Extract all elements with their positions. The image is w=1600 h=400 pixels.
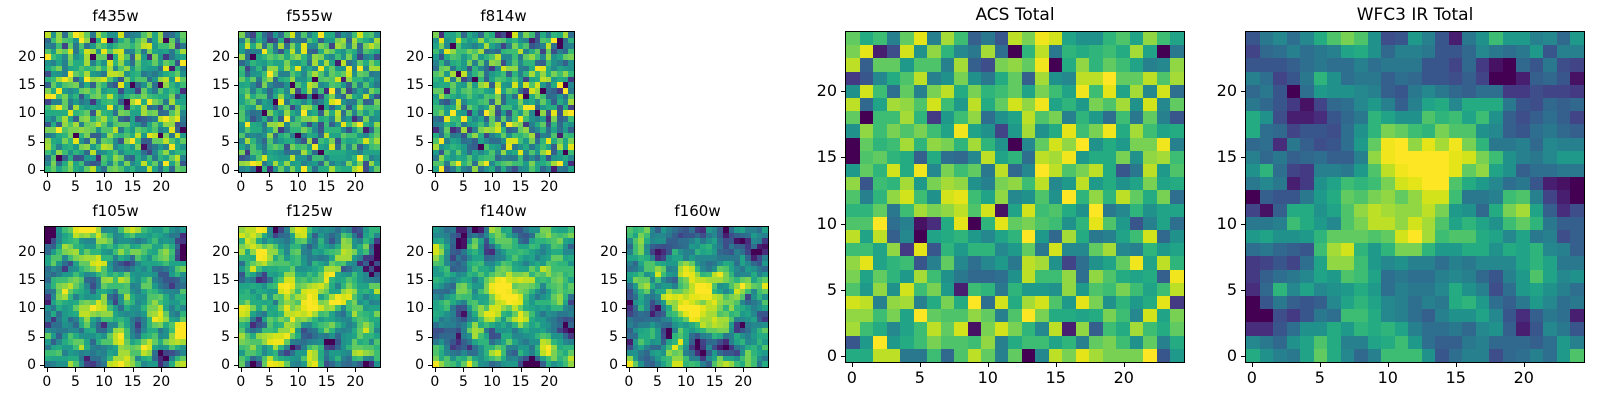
x-tick-label: 0 (42, 375, 51, 389)
panel-f435w: f435w0510152005101520 (0, 0, 1600, 400)
y-tick-label: 15 (783, 149, 837, 165)
x-tick-mark (521, 368, 522, 372)
y-tick-label: 10 (564, 301, 618, 315)
y-tick-mark (234, 280, 238, 281)
panel-f140w: f140w0510152005101520 (0, 0, 1600, 400)
x-tick-mark (1056, 363, 1057, 367)
y-tick-mark (841, 91, 845, 92)
y-tick-mark (1241, 224, 1245, 225)
x-tick-label: 5 (459, 180, 468, 194)
x-tick-mark (1252, 363, 1253, 367)
heatmap-pixels (45, 32, 186, 172)
y-tick-label: 20 (0, 245, 36, 259)
x-tick-mark (435, 368, 436, 372)
y-tick-label: 20 (176, 50, 230, 64)
heatmap-pixels (1246, 32, 1584, 362)
x-tick-mark (355, 368, 356, 372)
y-tick-mark (40, 170, 44, 171)
panel-f814w: f814w0510152005101520 (0, 0, 1600, 400)
x-tick-mark (435, 173, 436, 177)
x-tick-label: 20 (1114, 370, 1134, 386)
x-tick-mark (920, 363, 921, 367)
x-tick-mark (686, 368, 687, 372)
y-tick-mark (40, 85, 44, 86)
y-tick-mark (841, 356, 845, 357)
y-tick-mark (622, 337, 626, 338)
x-tick-label: 0 (430, 180, 439, 194)
x-tick-mark (75, 173, 76, 177)
x-tick-label: 10 (483, 375, 501, 389)
y-tick-label: 5 (176, 330, 230, 344)
y-tick-label: 5 (176, 135, 230, 149)
x-tick-label: 10 (677, 375, 695, 389)
x-tick-mark (133, 368, 134, 372)
y-tick-mark (622, 280, 626, 281)
heatmap-pixels (45, 227, 186, 367)
y-tick-mark (234, 85, 238, 86)
y-tick-mark (428, 280, 432, 281)
y-tick-label: 0 (176, 358, 230, 372)
y-tick-label: 10 (783, 216, 837, 232)
x-tick-mark (355, 173, 356, 177)
y-tick-label: 10 (176, 301, 230, 315)
y-tick-mark (234, 365, 238, 366)
y-tick-mark (841, 290, 845, 291)
y-tick-label: 20 (176, 245, 230, 259)
x-tick-label: 15 (318, 180, 336, 194)
x-tick-mark (47, 173, 48, 177)
x-tick-mark (463, 173, 464, 177)
y-tick-mark (428, 337, 432, 338)
x-tick-mark (269, 368, 270, 372)
axes-f105w (44, 226, 187, 368)
y-tick-label: 10 (176, 106, 230, 120)
x-tick-mark (1456, 363, 1457, 367)
x-tick-label: 10 (95, 375, 113, 389)
x-tick-label: 10 (95, 180, 113, 194)
y-tick-mark (428, 142, 432, 143)
x-tick-mark (104, 173, 105, 177)
x-tick-label: 15 (124, 375, 142, 389)
x-tick-label: 10 (289, 180, 307, 194)
y-tick-mark (841, 224, 845, 225)
y-tick-mark (40, 57, 44, 58)
x-tick-mark (629, 368, 630, 372)
y-tick-mark (428, 252, 432, 253)
y-tick-mark (234, 170, 238, 171)
panel-title-f125w: f125w (238, 204, 381, 219)
x-tick-label: 5 (265, 375, 274, 389)
y-tick-label: 0 (370, 163, 424, 177)
y-tick-mark (428, 365, 432, 366)
y-tick-label: 0 (783, 348, 837, 364)
x-tick-mark (269, 173, 270, 177)
y-tick-mark (622, 308, 626, 309)
y-tick-mark (234, 252, 238, 253)
x-tick-mark (47, 368, 48, 372)
y-tick-label: 10 (0, 106, 36, 120)
panel-title-wfc3-ir-total: WFC3 IR Total (1245, 7, 1585, 24)
x-tick-mark (327, 173, 328, 177)
y-tick-mark (40, 308, 44, 309)
panel-title-f555w: f555w (238, 9, 381, 24)
x-tick-label: 20 (346, 180, 364, 194)
x-tick-mark (104, 368, 105, 372)
x-tick-label: 5 (71, 180, 80, 194)
y-tick-mark (428, 113, 432, 114)
x-tick-label: 20 (734, 375, 752, 389)
y-tick-label: 5 (0, 330, 36, 344)
y-tick-label: 15 (176, 273, 230, 287)
x-tick-mark (492, 173, 493, 177)
x-tick-mark (1320, 363, 1321, 367)
y-tick-label: 0 (0, 358, 36, 372)
x-tick-label: 15 (706, 375, 724, 389)
y-tick-mark (234, 337, 238, 338)
y-tick-mark (622, 252, 626, 253)
heatmap-pixels (239, 227, 380, 367)
axes-f140w (432, 226, 575, 368)
y-tick-mark (234, 113, 238, 114)
panel-f160w: f160w0510152005101520 (0, 0, 1600, 400)
x-tick-label: 20 (152, 180, 170, 194)
panel-f125w: f125w0510152005101520 (0, 0, 1600, 400)
x-tick-label: 15 (1446, 370, 1466, 386)
y-tick-label: 10 (0, 301, 36, 315)
x-tick-label: 0 (624, 375, 633, 389)
x-tick-mark (161, 368, 162, 372)
figure-canvas: f435w0510152005101520f555w05101520051015… (0, 0, 1600, 400)
y-tick-label: 0 (564, 358, 618, 372)
x-tick-label: 20 (540, 375, 558, 389)
axes-f555w (238, 31, 381, 173)
y-tick-mark (428, 57, 432, 58)
x-tick-label: 15 (512, 180, 530, 194)
x-tick-label: 10 (483, 180, 501, 194)
y-tick-mark (1241, 157, 1245, 158)
axes-wfc3-ir-total (1245, 31, 1585, 363)
axes-f125w (238, 226, 381, 368)
axes-acs-total (845, 31, 1185, 363)
x-tick-label: 0 (236, 180, 245, 194)
x-tick-mark (988, 363, 989, 367)
y-tick-mark (1241, 290, 1245, 291)
y-tick-mark (234, 308, 238, 309)
y-tick-label: 0 (370, 358, 424, 372)
panel-wfc3-ir-total: WFC3 IR Total0510152005101520 (0, 0, 1600, 400)
y-tick-mark (841, 157, 845, 158)
y-tick-mark (428, 85, 432, 86)
x-tick-label: 20 (540, 180, 558, 194)
panel-title-f105w: f105w (44, 204, 187, 219)
y-tick-label: 15 (176, 78, 230, 92)
x-tick-label: 10 (978, 370, 998, 386)
heatmap-pixels (239, 32, 380, 172)
y-tick-label: 5 (370, 330, 424, 344)
panel-title-acs-total: ACS Total (845, 7, 1185, 24)
y-tick-mark (1241, 91, 1245, 92)
y-tick-label: 20 (370, 50, 424, 64)
heatmap-pixels (433, 227, 574, 367)
y-tick-mark (40, 252, 44, 253)
x-tick-mark (492, 368, 493, 372)
x-tick-label: 20 (346, 375, 364, 389)
x-tick-mark (1388, 363, 1389, 367)
panel-f105w: f105w0510152005101520 (0, 0, 1600, 400)
x-tick-label: 5 (915, 370, 925, 386)
x-tick-mark (1524, 363, 1525, 367)
x-tick-label: 10 (1378, 370, 1398, 386)
x-tick-label: 0 (42, 180, 51, 194)
panel-title-f160w: f160w (626, 204, 769, 219)
y-tick-label: 15 (1183, 149, 1237, 165)
x-tick-label: 20 (152, 375, 170, 389)
x-tick-label: 15 (512, 375, 530, 389)
x-tick-mark (549, 368, 550, 372)
y-tick-label: 10 (370, 106, 424, 120)
heatmap-pixels (846, 32, 1184, 362)
x-tick-mark (657, 368, 658, 372)
axes-f814w (432, 31, 575, 173)
y-tick-label: 20 (564, 245, 618, 259)
x-tick-label: 5 (653, 375, 662, 389)
x-tick-label: 15 (318, 375, 336, 389)
panel-title-f140w: f140w (432, 204, 575, 219)
y-tick-label: 20 (783, 83, 837, 99)
x-tick-label: 5 (1315, 370, 1325, 386)
x-tick-label: 0 (847, 370, 857, 386)
y-tick-label: 10 (370, 301, 424, 315)
panel-f555w: f555w0510152005101520 (0, 0, 1600, 400)
y-tick-label: 20 (0, 50, 36, 64)
x-tick-mark (743, 368, 744, 372)
y-tick-mark (234, 142, 238, 143)
y-tick-mark (622, 365, 626, 366)
y-tick-label: 15 (370, 273, 424, 287)
panel-title-f435w: f435w (44, 9, 187, 24)
y-tick-mark (428, 308, 432, 309)
y-tick-mark (40, 113, 44, 114)
x-tick-label: 5 (459, 375, 468, 389)
x-tick-mark (241, 368, 242, 372)
y-tick-mark (40, 142, 44, 143)
x-tick-mark (161, 173, 162, 177)
y-tick-mark (428, 170, 432, 171)
y-tick-label: 0 (1183, 348, 1237, 364)
heatmap-pixels (627, 227, 768, 367)
x-tick-mark (715, 368, 716, 372)
x-tick-mark (298, 368, 299, 372)
x-tick-label: 20 (1514, 370, 1534, 386)
x-tick-mark (133, 173, 134, 177)
y-tick-label: 5 (783, 282, 837, 298)
y-tick-label: 5 (1183, 282, 1237, 298)
y-tick-label: 5 (370, 135, 424, 149)
x-tick-mark (298, 173, 299, 177)
x-tick-label: 5 (265, 180, 274, 194)
y-tick-label: 5 (0, 135, 36, 149)
y-tick-label: 20 (1183, 83, 1237, 99)
x-tick-mark (549, 173, 550, 177)
x-tick-mark (463, 368, 464, 372)
panel-title-f814w: f814w (432, 9, 575, 24)
x-tick-label: 0 (236, 375, 245, 389)
x-tick-mark (521, 173, 522, 177)
y-tick-mark (1241, 356, 1245, 357)
x-tick-mark (75, 368, 76, 372)
y-tick-label: 15 (564, 273, 618, 287)
x-tick-label: 15 (1046, 370, 1066, 386)
y-tick-label: 15 (370, 78, 424, 92)
y-tick-label: 15 (0, 273, 36, 287)
x-tick-mark (852, 363, 853, 367)
y-tick-label: 5 (564, 330, 618, 344)
y-tick-mark (40, 280, 44, 281)
x-tick-label: 10 (289, 375, 307, 389)
axes-f435w (44, 31, 187, 173)
x-tick-label: 0 (1247, 370, 1257, 386)
y-tick-label: 0 (176, 163, 230, 177)
y-tick-mark (234, 57, 238, 58)
x-tick-mark (327, 368, 328, 372)
heatmap-pixels (433, 32, 574, 172)
y-tick-label: 0 (0, 163, 36, 177)
y-tick-label: 15 (0, 78, 36, 92)
x-tick-label: 0 (430, 375, 439, 389)
y-tick-mark (40, 337, 44, 338)
x-tick-label: 5 (71, 375, 80, 389)
y-tick-mark (40, 365, 44, 366)
y-tick-label: 20 (370, 245, 424, 259)
panel-acs-total: ACS Total0510152005101520 (0, 0, 1600, 400)
y-tick-label: 10 (1183, 216, 1237, 232)
axes-f160w (626, 226, 769, 368)
x-tick-label: 15 (124, 180, 142, 194)
x-tick-mark (1124, 363, 1125, 367)
x-tick-mark (241, 173, 242, 177)
